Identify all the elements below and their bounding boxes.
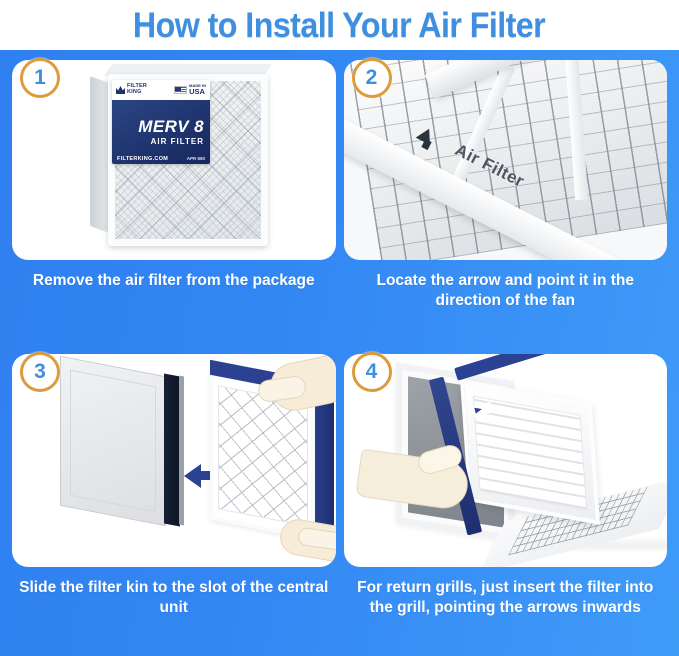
infographic-root: How to Install Your Air Filter: [0, 0, 679, 656]
product-type: AIR FILTER: [151, 137, 204, 146]
step-caption-4: For return grills, just insert the filte…: [344, 578, 668, 619]
step-1-illustration: FILTER KING MADE IN USA: [12, 60, 336, 260]
brand-website: FILTERKING.COM: [117, 156, 168, 162]
central-unit-panel: [70, 369, 156, 512]
step-3-card: [12, 354, 336, 567]
step-panel-2: Air Filter 2 Locate the arrow and point …: [344, 60, 668, 350]
merv-grade: MERV 8: [138, 118, 204, 135]
step-3-illustration: [12, 354, 336, 567]
step-badge-2: 2: [352, 58, 392, 98]
product-label-footer: FILTERKING.COM APR 650: [112, 156, 210, 162]
steps-grid: FILTER KING MADE IN USA: [0, 50, 679, 656]
step-panel-4: 4 For return grills, just insert the fil…: [344, 354, 668, 656]
product-label: FILTER KING MADE IN USA: [112, 80, 210, 164]
step-badge-4: 4: [352, 352, 392, 392]
page-title: How to Install Your Air Filter: [133, 8, 545, 43]
step-caption-3: Slide the filter kin to the slot of the …: [12, 578, 336, 619]
usa-flag-icon: [174, 86, 187, 94]
filter-navy-top-edge: [454, 354, 573, 381]
header: How to Install Your Air Filter: [0, 0, 679, 50]
step-badge-3: 3: [20, 352, 60, 392]
step-badge-1: 1: [20, 58, 60, 98]
made-in-usa-lockup: MADE IN USA: [174, 84, 206, 96]
step-4-card: [344, 354, 668, 567]
apr-rating: APR 650: [187, 156, 205, 162]
crown-icon: [116, 86, 125, 94]
step-2-card: Air Filter: [344, 60, 668, 260]
brand-lockup: FILTER KING: [116, 84, 147, 96]
step-2-illustration: Air Filter: [344, 60, 668, 260]
step-panel-3: 3 Slide the filter kin to the slot of th…: [12, 354, 336, 656]
filter-navy-side: [312, 389, 334, 543]
direction-arrow-icon: [184, 464, 201, 488]
central-unit-edge: [179, 375, 184, 525]
country-text: USA: [189, 88, 206, 96]
step-panel-1: FILTER KING MADE IN USA: [12, 60, 336, 350]
step-caption-2: Locate the arrow and point it in the dir…: [344, 271, 668, 312]
step-4-illustration: [344, 354, 668, 567]
filter-slot: [164, 373, 180, 526]
brand-name-line2: KING: [127, 90, 147, 96]
step-caption-1: Remove the air filter from the package: [12, 271, 336, 291]
product-label-header: FILTER KING MADE IN USA: [112, 80, 210, 100]
step-1-card: FILTER KING MADE IN USA: [12, 60, 336, 260]
product-label-body: MERV 8 AIR FILTER FILTERKING.COM APR 650: [112, 100, 210, 164]
